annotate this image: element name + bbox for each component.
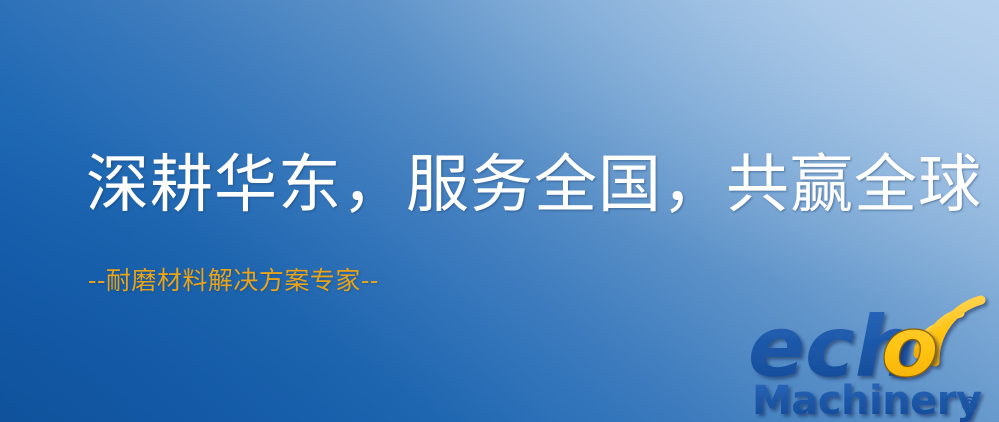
banner-subtitle: --耐磨材料解决方案专家--: [88, 268, 379, 293]
echo-machinery-logo[interactable]: ech o Machinery ®: [748, 296, 999, 422]
logo-trademark-icon: ®: [959, 393, 980, 417]
banner-headline: 深耕华东，服务全国，共赢全球: [86, 153, 982, 216]
logo-tagline: Machinery: [752, 378, 982, 422]
hero-banner: 深耕华东，服务全国，共赢全球 --耐磨材料解决方案专家--: [0, 0, 999, 422]
